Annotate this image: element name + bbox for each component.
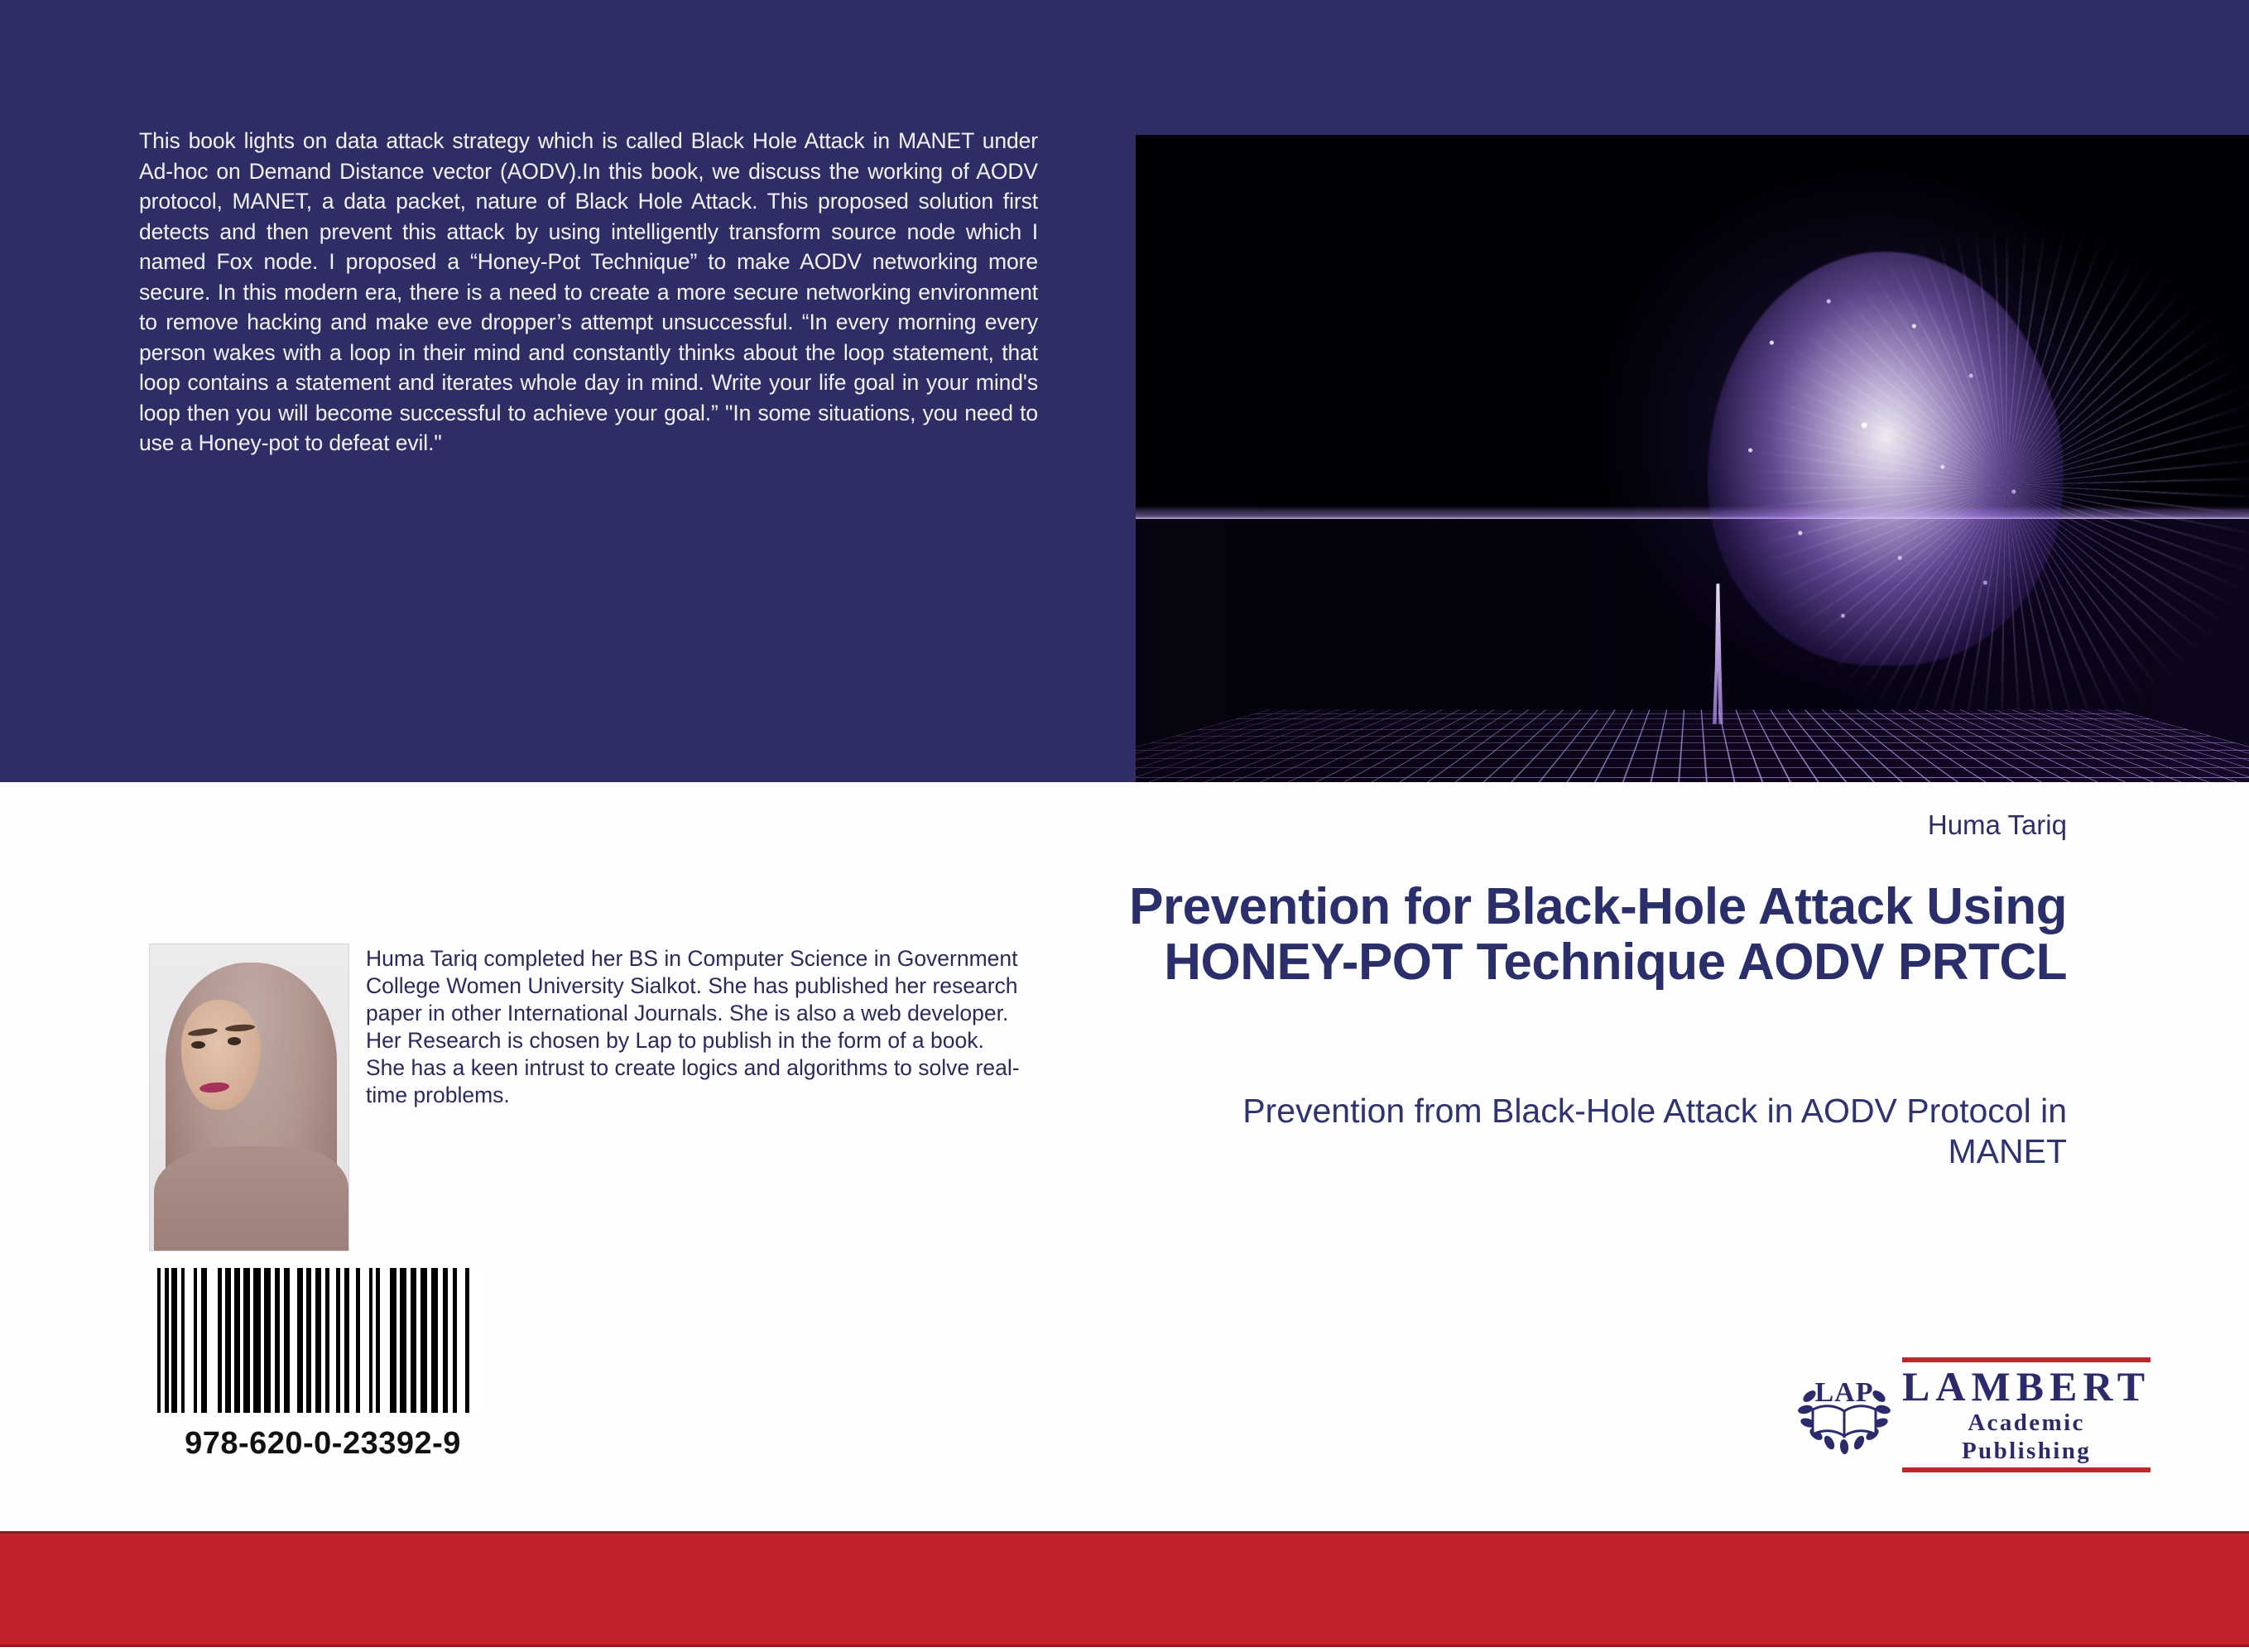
publisher-logo: LAP LAMBERT Academic Publishing xyxy=(1798,1366,2146,1463)
author-photo xyxy=(149,944,349,1251)
publisher-tagline: Academic Publishing xyxy=(1902,1409,2150,1467)
front-cover-subtitle: Prevention from Black-Hole Attack in AOD… xyxy=(1115,1091,2067,1172)
back-cover-blurb: This book lights on data attack strategy… xyxy=(139,126,1038,459)
photo-eye-left xyxy=(191,1041,205,1049)
bottom-red-band xyxy=(0,1531,2249,1647)
back-cover-navy-panel: This book lights on data attack strategy… xyxy=(0,0,2249,782)
cover-artwork xyxy=(1136,135,2249,782)
photo-eye-right xyxy=(228,1037,242,1045)
author-bio: Huma Tariq completed her BS in Computer … xyxy=(366,945,1028,1109)
publisher-name: LAMBERT xyxy=(1902,1362,2150,1409)
artwork-night-sky xyxy=(1136,135,2249,782)
isbn-number: 978-620-0-23392-9 xyxy=(157,1426,488,1462)
front-cover-title: Prevention for Black-Hole Attack Using H… xyxy=(1115,879,2067,990)
isbn-barcode-block: 978-620-0-23392-9 xyxy=(157,1268,505,1462)
svg-text:LAP: LAP xyxy=(1815,1377,1874,1408)
lambert-wordmark: LAMBERT Academic Publishing xyxy=(1902,1357,2150,1472)
lap-emblem-icon: LAP xyxy=(1798,1368,1891,1461)
barcode-icon xyxy=(157,1268,488,1413)
front-cover-author: Huma Tariq xyxy=(1928,809,2067,841)
logo-rule-bottom xyxy=(1902,1467,2150,1472)
photo-shoulders xyxy=(154,1146,348,1251)
